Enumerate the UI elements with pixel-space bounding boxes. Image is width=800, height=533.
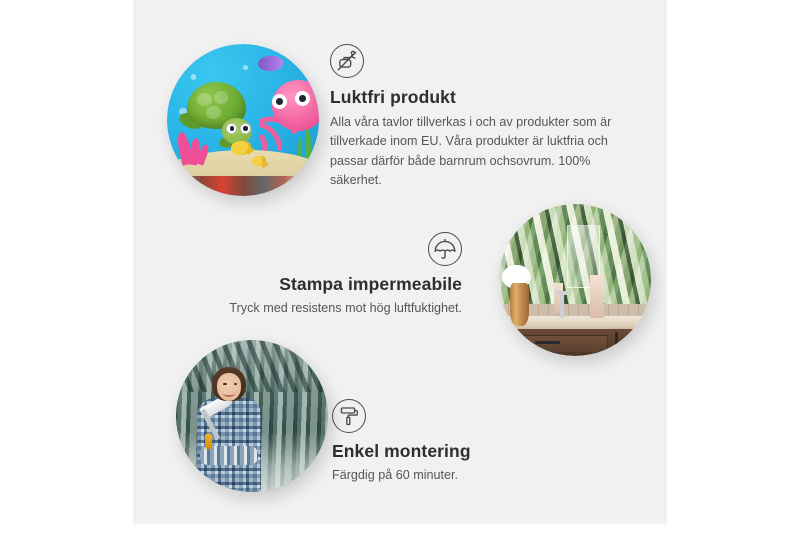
product-photo-forest-image: [176, 340, 328, 492]
feature-easy-install-title: Enkel montering: [332, 441, 572, 462]
umbrella-icon: [428, 232, 462, 266]
yellow-fish-icon: [252, 156, 266, 166]
faucet: [560, 291, 564, 318]
product-photo-bathroom-image: [499, 204, 651, 356]
cabinet-handle: [636, 332, 639, 353]
product-photo-forest[interactable]: [176, 340, 328, 492]
vanity-drawer: [511, 335, 608, 354]
person-eye: [234, 383, 237, 385]
feature-easy-install-description: Färgdig på 60 minuter.: [332, 466, 572, 485]
forest-canopy: [176, 340, 328, 392]
product-photo-bathroom[interactable]: [499, 204, 651, 356]
yellow-fish-icon: [231, 141, 251, 155]
paint-roller-icon: [332, 399, 366, 433]
person-arm: [200, 446, 258, 464]
feature-easy-install: Enkel montering Färgdig på 60 minuter.: [332, 399, 572, 485]
no-spray-bottle-icon: [330, 44, 364, 78]
product-feature-page: Luktfri produkt Alla våra tavlor tillver…: [0, 0, 800, 533]
bubble-icon: [243, 65, 248, 70]
product-photo-ocean[interactable]: [167, 44, 319, 196]
cabinet-handle: [615, 332, 618, 353]
feature-waterproof-description: Tryck med resistens mot hög luftfuktighe…: [200, 299, 462, 318]
feature-odorless-description: Alla våra tavlor tillverkas i och av pro…: [330, 113, 620, 190]
feature-waterproof-title: Stampa impermeabile: [200, 274, 462, 295]
feature-odorless-title: Luktfri produkt: [330, 87, 620, 108]
vase: [510, 283, 530, 326]
feature-waterproof: Stampa impermeabile Tryck med resistens …: [200, 232, 462, 318]
paint-roller-grip: [205, 434, 213, 449]
purple-fish-icon: [258, 56, 282, 71]
feature-odorless: Luktfri produkt Alla våra tavlor tillver…: [330, 44, 620, 190]
toiletry-bottle: [590, 275, 604, 318]
person-eye: [223, 383, 226, 385]
drawer-handle: [535, 341, 559, 344]
person-smile: [223, 390, 235, 397]
product-photo-ocean-image: [167, 44, 319, 196]
photo-bottom-strip: [179, 176, 307, 196]
